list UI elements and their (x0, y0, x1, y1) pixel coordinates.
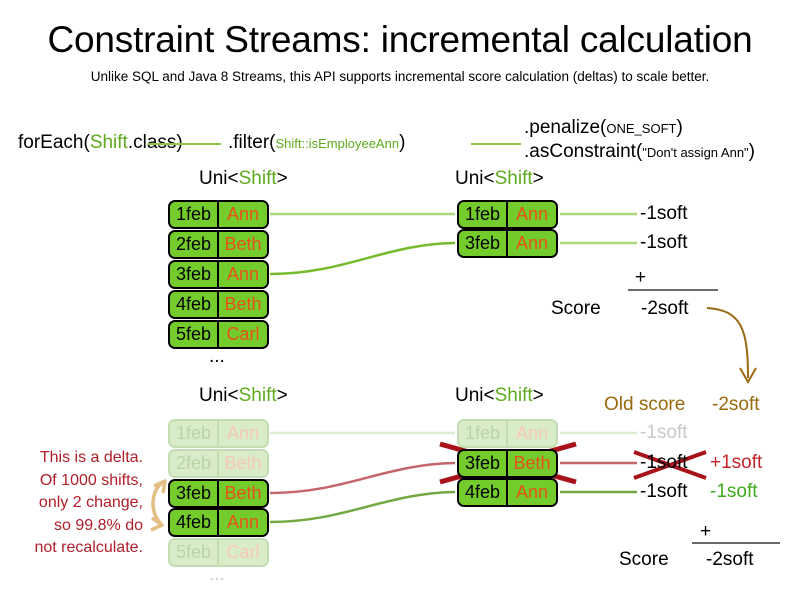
page-subtitle: Unlike SQL and Java 8 Streams, this API … (0, 68, 800, 86)
shift-chip[interactable]: 4feb Ann (168, 508, 269, 537)
score-value: -2soft (641, 298, 689, 320)
shift-date: 3feb (459, 451, 508, 476)
stream-header-bottom-right: Uni<Shift> (455, 385, 544, 407)
shift-employee: Beth (219, 292, 267, 317)
penalty-value: -1soft (640, 481, 688, 503)
code-penalize: .penalize(ONE_SOFT) (524, 116, 683, 141)
stream-header-bottom-left: Uni<Shift> (199, 385, 288, 407)
shift-chip[interactable]: 4feb Ann (457, 478, 558, 507)
page-title: Constraint Streams: incremental calculat… (0, 18, 800, 62)
shift-employee: Ann (219, 421, 267, 446)
sum-plus-sign: + (635, 268, 646, 288)
penalty-delta: -1soft (710, 481, 758, 503)
shift-date: 1feb (170, 202, 219, 227)
shift-chip-removed[interactable]: 3feb Beth (457, 449, 558, 478)
shift-chip-inactive[interactable]: 1feb Ann (168, 419, 269, 448)
code-filter-pre: .filter( (228, 132, 276, 153)
stream-ellipsis-bottom-left: ... (209, 565, 225, 584)
old-score-value: -2soft (712, 394, 760, 416)
uni-type: Shift (495, 385, 533, 406)
shift-date: 3feb (170, 481, 219, 506)
uni-type: Shift (495, 168, 533, 189)
delta-note: This is a delta. Of 1000 shifts, only 2 … (0, 447, 143, 560)
stream-ellipsis-top-left: ... (209, 347, 225, 366)
score-label: Score (551, 298, 601, 320)
delta-note-line: Of 1000 shifts, (0, 470, 143, 493)
uni-pre: Uni< (199, 168, 239, 189)
shift-chip[interactable]: 2feb Beth (168, 230, 269, 259)
sum-rule (628, 289, 718, 291)
uni-post: > (277, 385, 288, 406)
code-asconstraint-arg: "Don't assign Ann" (642, 145, 748, 160)
shift-employee: Carl (219, 540, 267, 565)
uni-pre: Uni< (455, 168, 495, 189)
shift-chip[interactable]: 5feb Carl (168, 320, 269, 349)
delta-note-line: only 2 change, (0, 492, 143, 515)
top-link-3feb (270, 243, 455, 274)
code-asconstraint-pre: .asConstraint( (524, 141, 642, 162)
shift-chip[interactable]: 1feb Ann (168, 200, 269, 229)
shift-employee: Ann (219, 262, 267, 287)
score-label: Score (619, 549, 669, 571)
shift-chip-inactive[interactable]: 2feb Beth (168, 449, 269, 478)
shift-chip[interactable]: 3feb Ann (457, 229, 558, 258)
code-penalize-pre: .penalize( (524, 117, 606, 138)
shift-chip[interactable]: 4feb Beth (168, 290, 269, 319)
shift-date: 1feb (459, 421, 508, 446)
uni-type: Shift (239, 168, 277, 189)
code-connector-1 (148, 143, 221, 145)
shift-chip-inactive[interactable]: 5feb Carl (168, 538, 269, 567)
old-score-label: Old score (604, 394, 685, 416)
code-connector-2 (471, 143, 521, 145)
shift-employee: Beth (219, 451, 267, 476)
shift-date: 2feb (170, 232, 219, 257)
shift-date: 4feb (170, 292, 219, 317)
bottom-link-3feb-removed (270, 463, 455, 493)
penalty-value: -1soft (640, 422, 688, 444)
penalty-value: -1soft (640, 452, 688, 474)
delta-swap-arrow-head-down (151, 518, 162, 530)
shift-date: 1feb (170, 421, 219, 446)
penalty-value: -1soft (640, 232, 688, 254)
code-penalize-post: ) (676, 117, 682, 138)
shift-employee: Beth (219, 481, 267, 506)
delta-note-line: This is a delta. (0, 447, 143, 470)
code-asconstraint: .asConstraint("Don't assign Ann") (524, 140, 755, 165)
uni-pre: Uni< (199, 385, 239, 406)
stream-header-top-right: Uni<Shift> (455, 168, 544, 190)
slide-canvas: Constraint Streams: incremental calculat… (0, 0, 800, 600)
uni-post: > (533, 385, 544, 406)
penalty-value: -1soft (640, 203, 688, 225)
bottom-link-4feb-added (270, 492, 455, 522)
code-foreach-class: Shift (90, 132, 128, 153)
code-filter-post: ) (399, 132, 405, 153)
shift-employee: Beth (508, 451, 556, 476)
shift-date: 5feb (170, 322, 219, 347)
shift-employee: Ann (508, 202, 556, 227)
shift-employee: Ann (508, 480, 556, 505)
shift-date: 4feb (459, 480, 508, 505)
shift-date: 1feb (459, 202, 508, 227)
shift-employee: Ann (508, 231, 556, 256)
sum-plus-sign: + (700, 522, 711, 542)
uni-post: > (277, 168, 288, 189)
delta-note-line: so 99.8% do (0, 515, 143, 538)
penalty-delta: +1soft (710, 452, 762, 474)
shift-employee: Ann (219, 510, 267, 535)
uni-type: Shift (239, 385, 277, 406)
code-penalize-arg: ONE_SOFT (606, 121, 676, 136)
delta-note-line: not recalculate. (0, 537, 143, 560)
code-asconstraint-post: ) (749, 141, 755, 162)
code-filter: .filter(Shift::isEmployeeAnn) (228, 131, 405, 156)
code-filter-arg: Shift::isEmployeeAnn (276, 136, 400, 151)
shift-employee: Ann (219, 202, 267, 227)
shift-date: 5feb (170, 540, 219, 565)
delta-swap-arrow-curve (153, 482, 163, 524)
code-foreach-pre: forEach( (18, 132, 90, 153)
shift-employee: Ann (508, 421, 556, 446)
shift-date: 3feb (170, 262, 219, 287)
old-score-arrow-head (740, 368, 756, 382)
sum-rule (692, 542, 780, 544)
shift-chip[interactable]: 3feb Ann (168, 260, 269, 289)
shift-employee: Beth (219, 232, 267, 257)
score-value: -2soft (706, 549, 754, 571)
stream-header-top-left: Uni<Shift> (199, 168, 288, 190)
uni-post: > (533, 168, 544, 189)
shift-employee: Carl (219, 322, 267, 347)
shift-chip[interactable]: 3feb Beth (168, 479, 269, 508)
shift-date: 3feb (459, 231, 508, 256)
shift-chip-inactive[interactable]: 1feb Ann (457, 419, 558, 448)
delta-swap-arrow-head-up (154, 481, 165, 493)
shift-chip[interactable]: 1feb Ann (457, 200, 558, 229)
old-score-arrow-curve (707, 308, 748, 378)
uni-pre: Uni< (455, 385, 495, 406)
shift-date: 2feb (170, 451, 219, 476)
shift-date: 4feb (170, 510, 219, 535)
